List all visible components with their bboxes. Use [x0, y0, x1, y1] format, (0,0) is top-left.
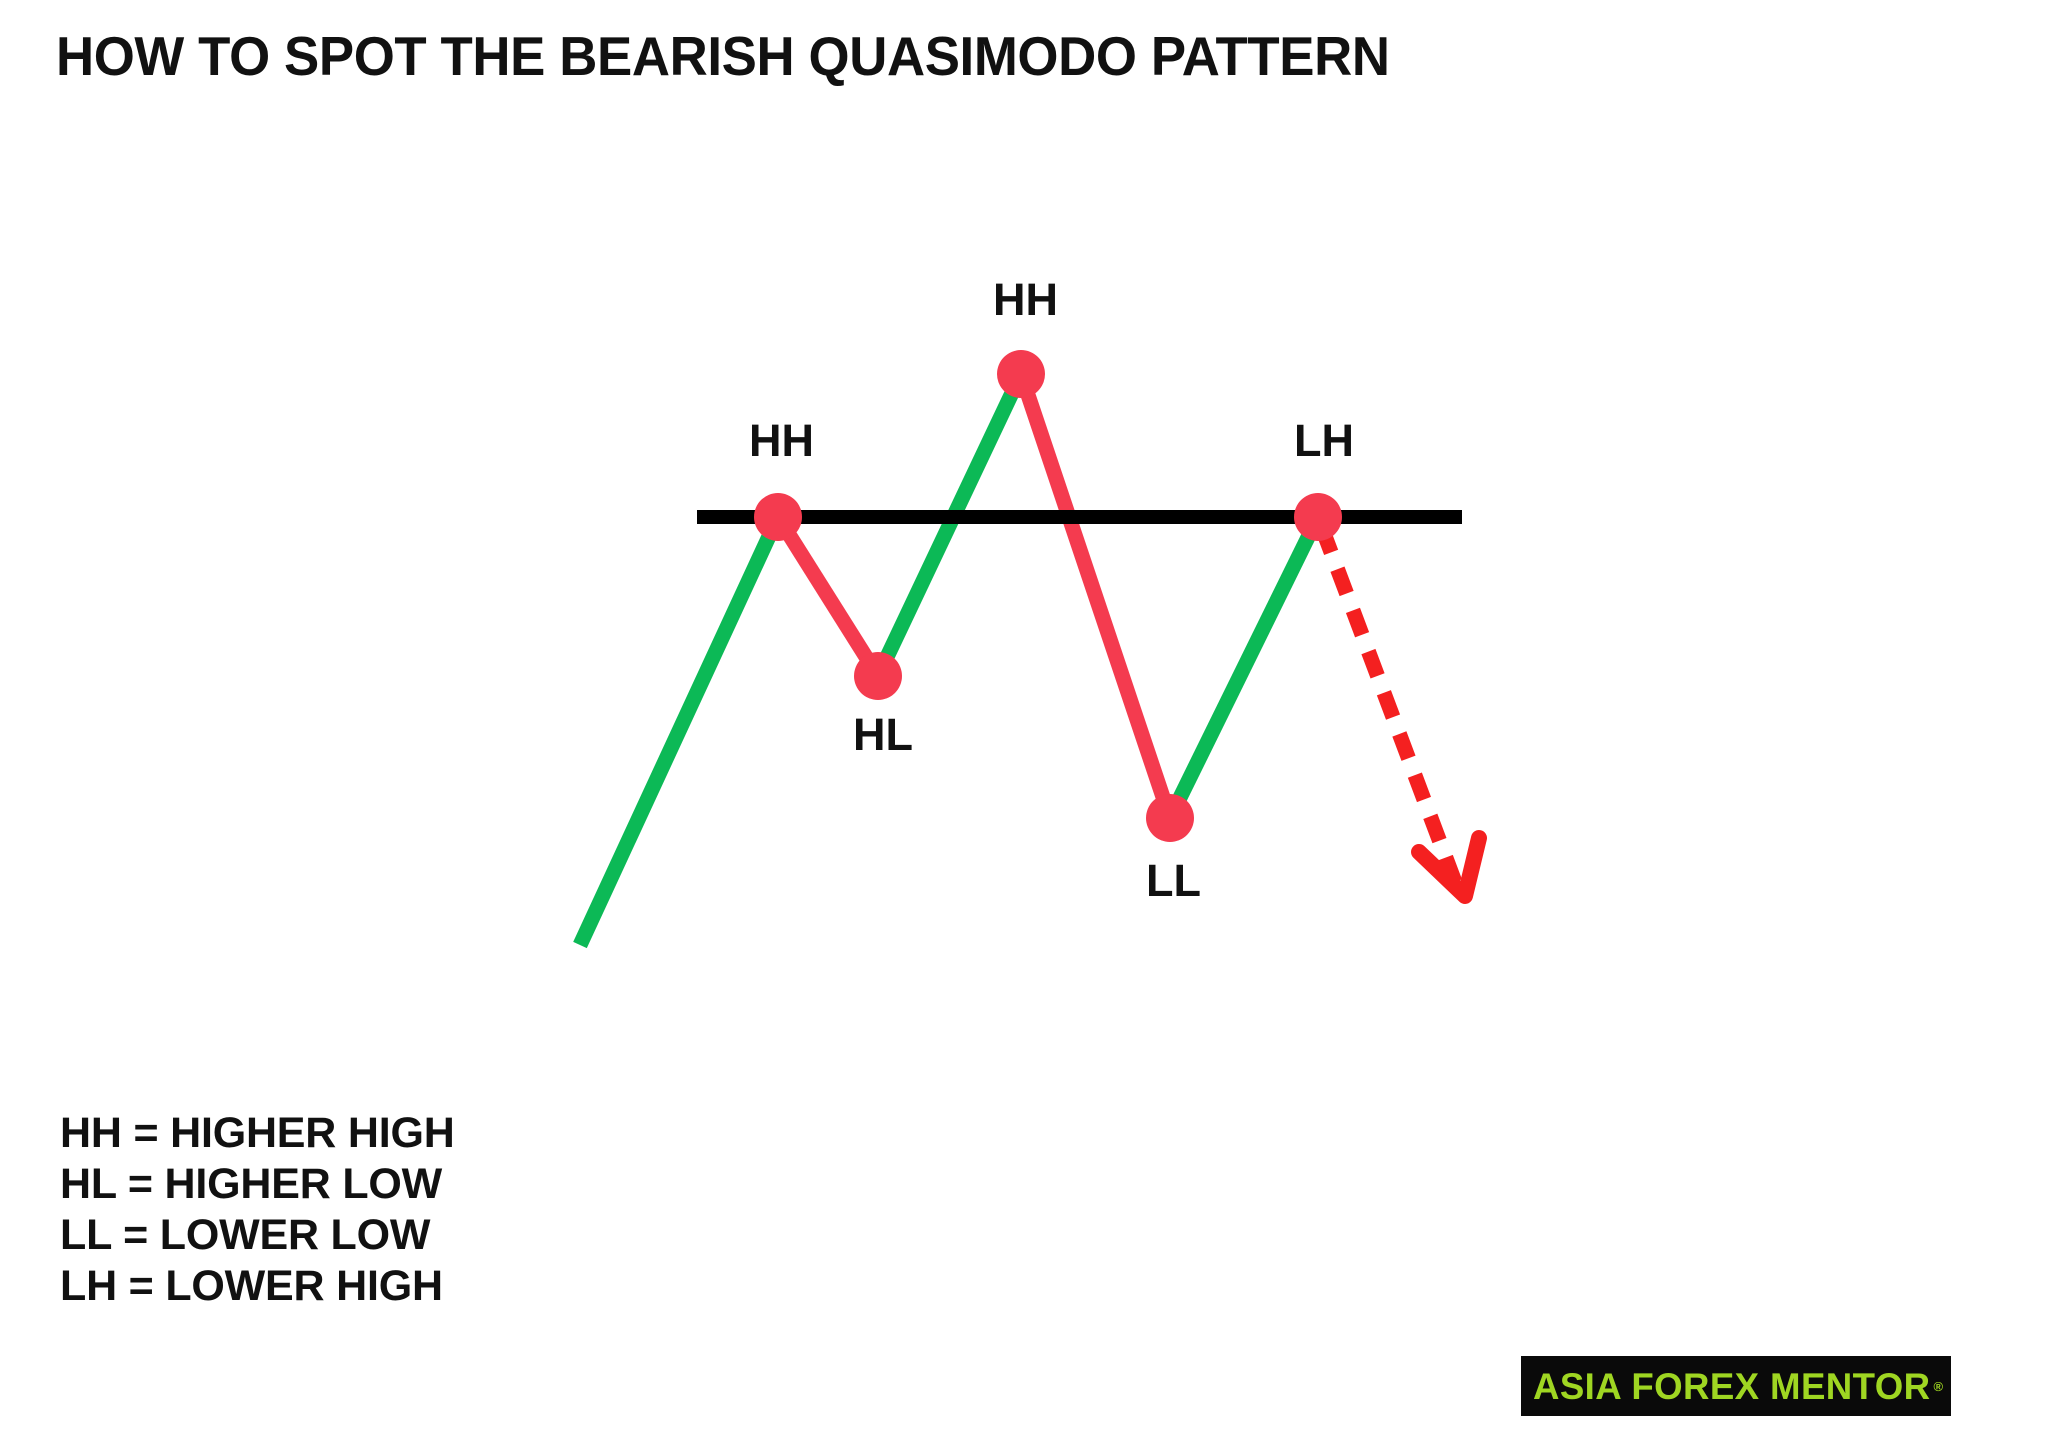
- label-lh: LH: [1294, 418, 1354, 463]
- label-ll: LL: [1146, 858, 1201, 903]
- legend: HH = HIGHER HIGH HL = HIGHER LOW LL = LO…: [60, 1108, 455, 1312]
- bearish-leg-hh1-hl: [778, 517, 878, 676]
- projection-dashed-line: [1322, 528, 1455, 882]
- bullish-leg-hl-hh2: [878, 374, 1021, 676]
- legend-row-ll: LL = LOWER LOW: [60, 1210, 455, 1261]
- swing-point-hh2: [997, 350, 1045, 398]
- bearish-leg-hh2-ll: [1021, 374, 1170, 818]
- label-hh1: HH: [749, 418, 814, 463]
- swing-point-hl: [854, 652, 902, 700]
- infographic-canvas: HOW TO SPOT THE BEARISH QUASIMODO PATTER…: [0, 0, 2048, 1448]
- legend-row-lh: LH = LOWER HIGH: [60, 1261, 455, 1312]
- label-hh2: HH: [993, 277, 1058, 322]
- swing-point-lh: [1294, 493, 1342, 541]
- legend-row-hh: HH = HIGHER HIGH: [60, 1108, 455, 1159]
- registered-trademark-icon: ®: [1933, 1380, 1943, 1393]
- bullish-leg-start-hh1: [580, 517, 778, 945]
- brand-logo: ASIA FOREX MENTOR®: [1521, 1356, 1951, 1416]
- label-hl: HL: [853, 712, 913, 757]
- swing-point-ll: [1146, 794, 1194, 842]
- bullish-leg-ll-lh: [1170, 517, 1318, 818]
- legend-row-hl: HL = HIGHER LOW: [60, 1159, 455, 1210]
- brand-logo-text: ASIA FOREX MENTOR: [1533, 1368, 1930, 1405]
- swing-point-hh1: [754, 493, 802, 541]
